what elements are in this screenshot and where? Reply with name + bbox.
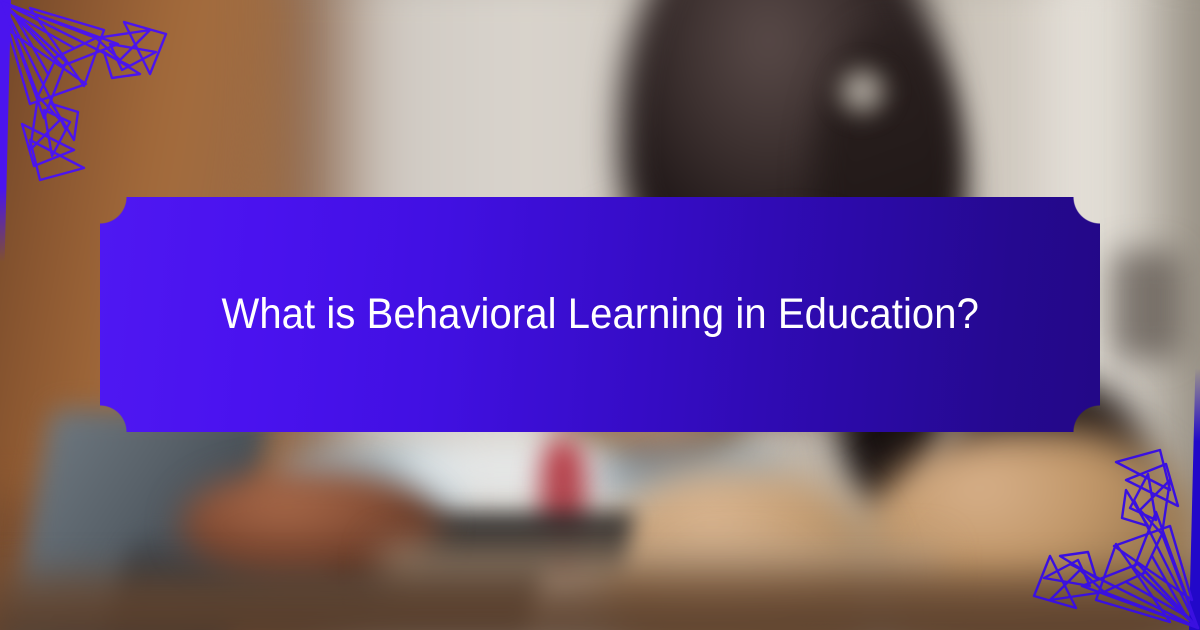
background-blob-white	[400, 440, 620, 500]
poster-canvas: What is Behavioral Learning in Education…	[0, 0, 1200, 630]
background-blob-dark	[1110, 250, 1180, 360]
page-title: What is Behavioral Learning in Education…	[184, 290, 1016, 339]
desk-front-edge	[0, 575, 1200, 630]
title-banner: What is Behavioral Learning in Education…	[100, 197, 1100, 432]
hair-highlight	[830, 60, 894, 122]
